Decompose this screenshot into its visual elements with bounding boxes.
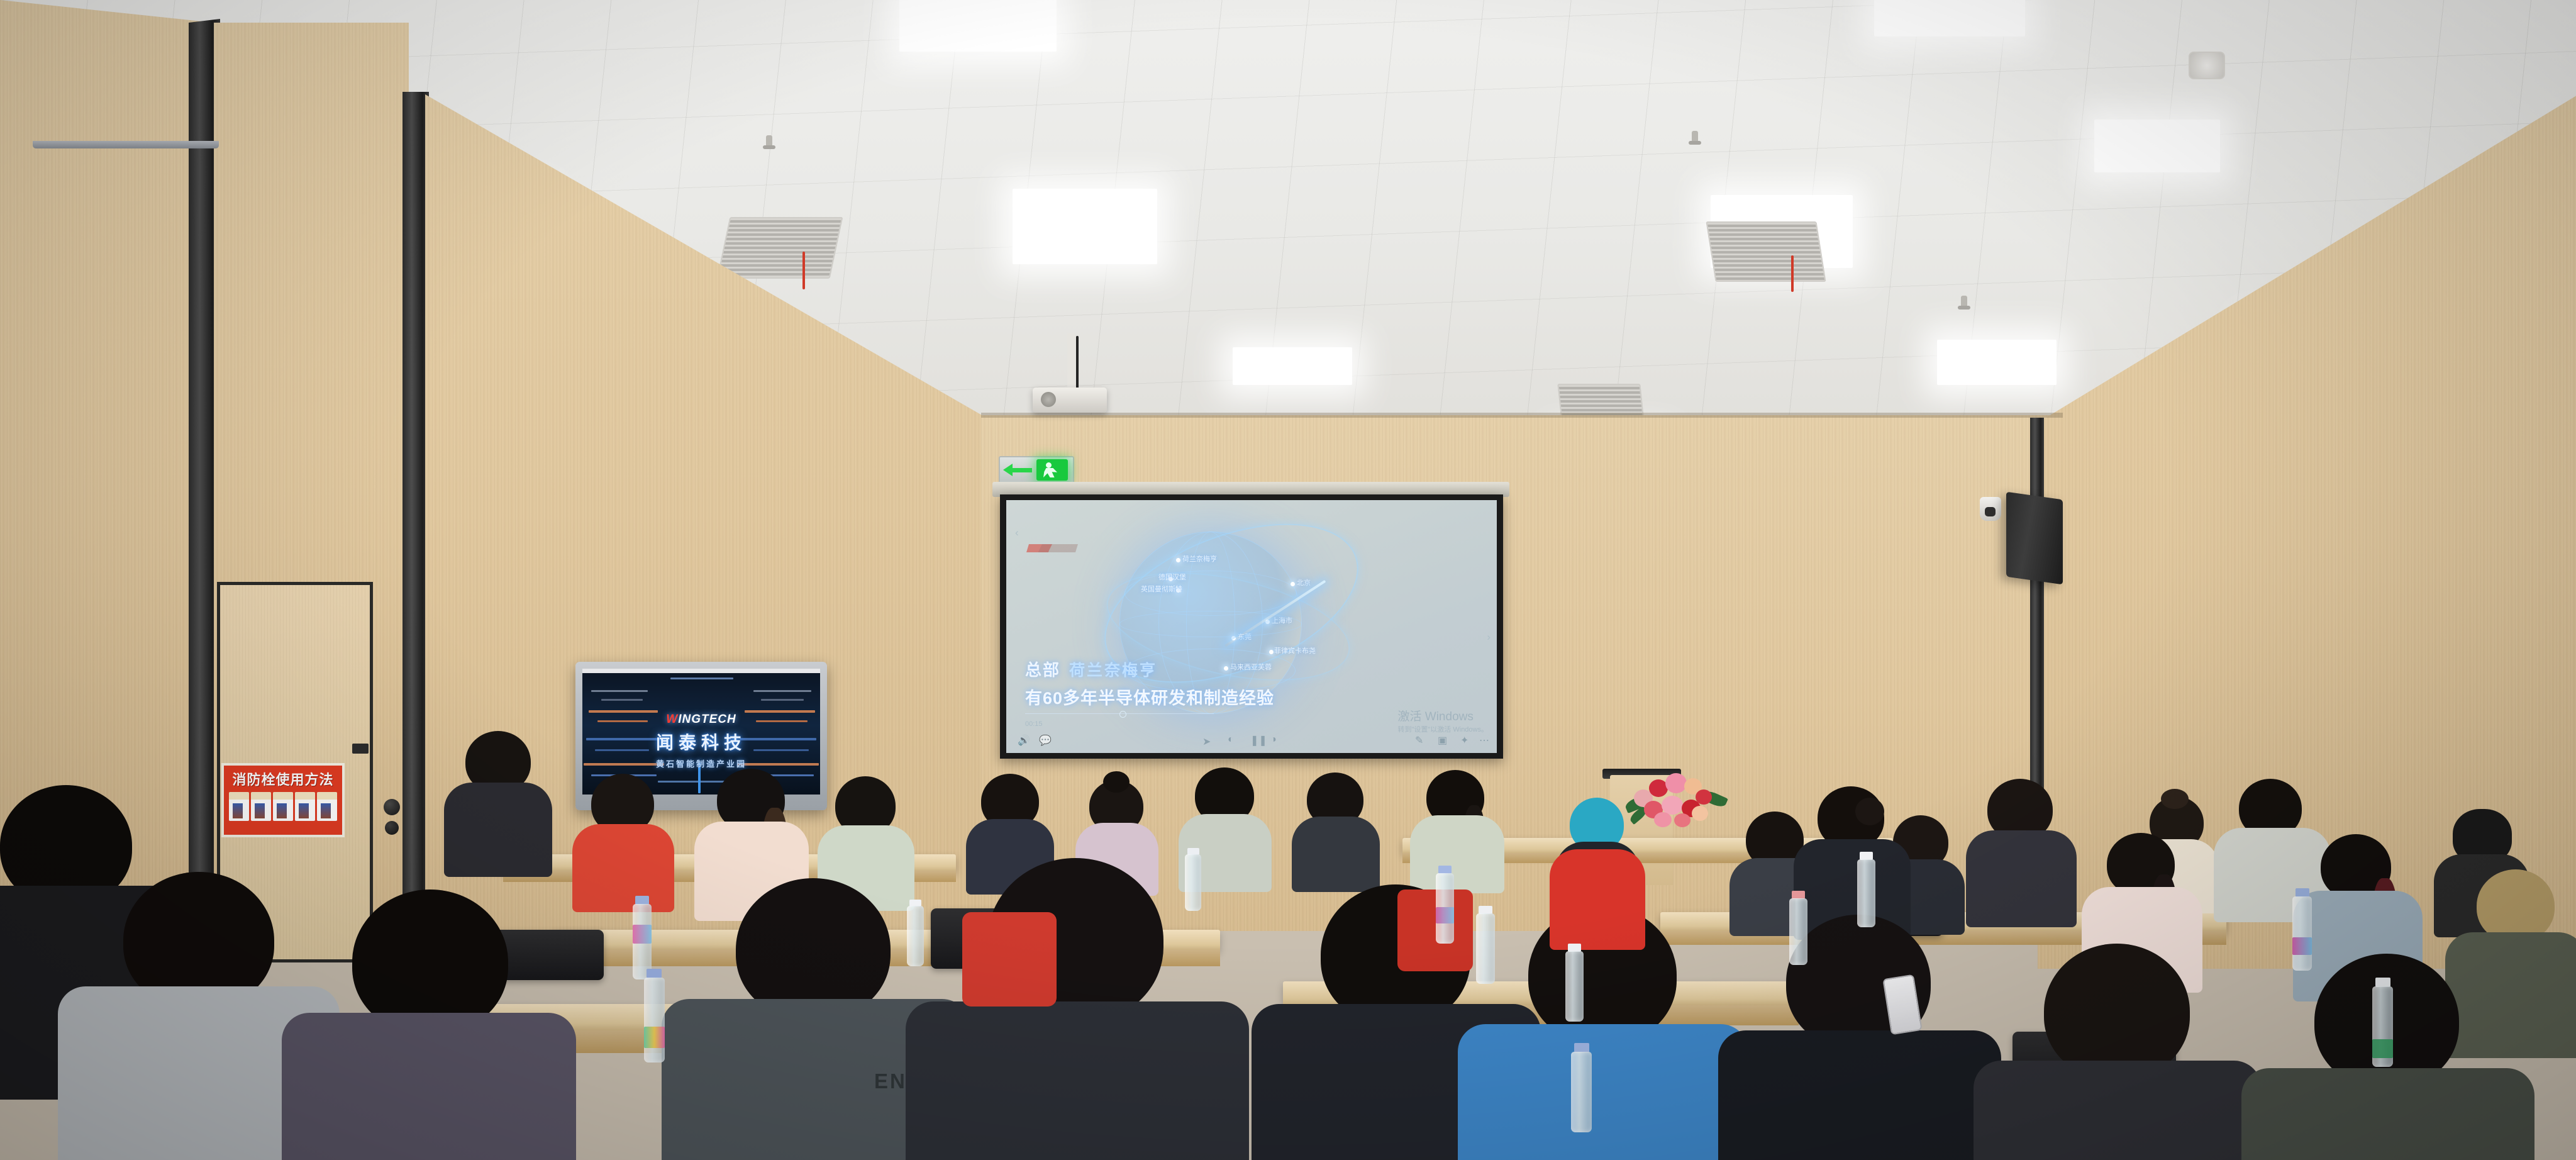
projector-cable: [1076, 336, 1079, 391]
ceiling-light: [2094, 120, 2220, 172]
poster-step: [317, 792, 337, 821]
slide-subtitle: 有60多年半导体研发和制造经验: [1025, 684, 1274, 709]
windows-activation-watermark: 激活 Windows 转到"设置"以激活 Windows。: [1398, 707, 1489, 734]
ceiling-light: [899, 0, 1057, 52]
city-label: 德国汉堡: [1158, 572, 1186, 582]
mouse-cursor-icon: ➤: [1202, 735, 1211, 748]
brand-latin-text: WINGTECH: [666, 713, 736, 727]
exit-arrow-left-icon: [1003, 462, 1033, 478]
slide-timecode: 00:15: [1025, 720, 1043, 728]
air-vent: [717, 217, 843, 279]
brand-chinese-text: 闻泰科技: [582, 729, 820, 754]
poster-step: [251, 792, 271, 821]
ceiling-light: [1937, 340, 2057, 385]
city-label: 上海市: [1272, 615, 1292, 625]
wingtech-logo: WINGTECH 闻泰科技 黄石智能制造产业园: [582, 713, 820, 769]
slide-next-arrow-icon[interactable]: ›: [1487, 631, 1491, 644]
smoke-detector: [2189, 52, 2225, 79]
projection-screen-surface[interactable]: ‹ › 荷兰奈梅亨 德国汉堡 英国曼彻斯特 北京 上海市 东莞: [1006, 500, 1497, 753]
brand-accent-w: W: [666, 713, 678, 726]
ceiling-wall-joint: [981, 413, 2063, 418]
wall-speaker: [2006, 492, 2063, 585]
comment-icon[interactable]: 💬: [1039, 734, 1052, 747]
ceiling-light: [1233, 347, 1352, 385]
slide-underline: [1025, 713, 1214, 714]
laser-pointer-icon[interactable]: ✦: [1460, 734, 1468, 747]
powerpoint-toolbar[interactable]: 🔊 💬 ◐ ❚❚ ◑ ✎ ▣ ✦ ⋯ ➤: [1006, 733, 1497, 749]
sprinkler-head: [766, 135, 772, 149]
slide-caption: 总部 荷兰奈梅亨 有60多年半导体研发和制造经验: [1025, 657, 1274, 714]
door-lock-icon[interactable]: [385, 821, 399, 835]
slide-view-icon[interactable]: ▣: [1438, 734, 1447, 747]
slide-prev-arrow-icon[interactable]: ‹: [1015, 527, 1019, 539]
meeting-room-photo: ‹ › 荷兰奈梅亨 德国汉堡 英国曼彻斯特 北京 上海市 东莞: [0, 0, 2576, 1160]
ceiling-light: [1874, 0, 2025, 36]
city-label: 荷兰奈梅亨: [1182, 554, 1217, 564]
flower-bouquet: [1621, 764, 1728, 834]
previous-slide-icon[interactable]: ◐: [1228, 734, 1234, 745]
poster-step: [273, 792, 293, 821]
display-mount-bar: [33, 141, 219, 148]
slide-corner-logo: [1026, 544, 1078, 552]
fire-hydrant-instruction-poster: 消防栓使用方法: [221, 763, 345, 837]
security-camera: [1980, 497, 2001, 521]
ceiling-light: [1013, 189, 1157, 264]
poster-steps: [227, 792, 339, 821]
air-vent: [1706, 221, 1826, 282]
watermark-line-1: 激活 Windows: [1398, 707, 1489, 724]
running-man-icon: [1036, 459, 1068, 481]
poster-step: [295, 792, 315, 821]
red-bag: [1397, 890, 1473, 971]
card-reader[interactable]: [352, 744, 369, 754]
vent-ribbon: [802, 252, 805, 289]
sprinkler-head: [1961, 296, 1967, 310]
city-label: 北京: [1297, 577, 1311, 588]
city-label: 菲律宾卡布尧: [1274, 645, 1316, 655]
red-bag: [962, 912, 1057, 1007]
exit-sign: [999, 456, 1074, 484]
city-dot: [1176, 558, 1180, 562]
next-slide-icon[interactable]: ◑: [1270, 734, 1277, 745]
city-label: 英国曼彻斯特: [1141, 584, 1182, 594]
poster-title: 消防栓使用方法: [227, 769, 339, 789]
city-dot: [1291, 582, 1295, 586]
poster-step: [229, 792, 249, 821]
door-handle-icon[interactable]: [384, 799, 400, 815]
brand-subtitle-text: 黄石智能制造产业园: [582, 757, 820, 769]
projector-lens-icon: [1041, 392, 1056, 407]
speaker-icon[interactable]: 🔊: [1018, 734, 1030, 747]
projector-mount-rod: [1067, 333, 1075, 389]
sprinkler-head: [1692, 131, 1698, 145]
ceiling-projector: [1033, 388, 1107, 413]
vent-ribbon: [1791, 255, 1794, 292]
slide-hq-city: 荷兰奈梅亨: [1069, 658, 1157, 681]
pause-icon[interactable]: ❚❚: [1250, 734, 1267, 747]
slide-hq-label: 总部: [1025, 657, 1060, 681]
city-dot: [1269, 650, 1274, 654]
watermark-line-2: 转到"设置"以激活 Windows。: [1398, 724, 1489, 734]
pen-icon[interactable]: ✎: [1415, 734, 1423, 747]
more-options-icon[interactable]: ⋯: [1479, 734, 1489, 747]
windows-titlebar: [582, 669, 820, 673]
wall-column-trim-2: [402, 92, 429, 947]
